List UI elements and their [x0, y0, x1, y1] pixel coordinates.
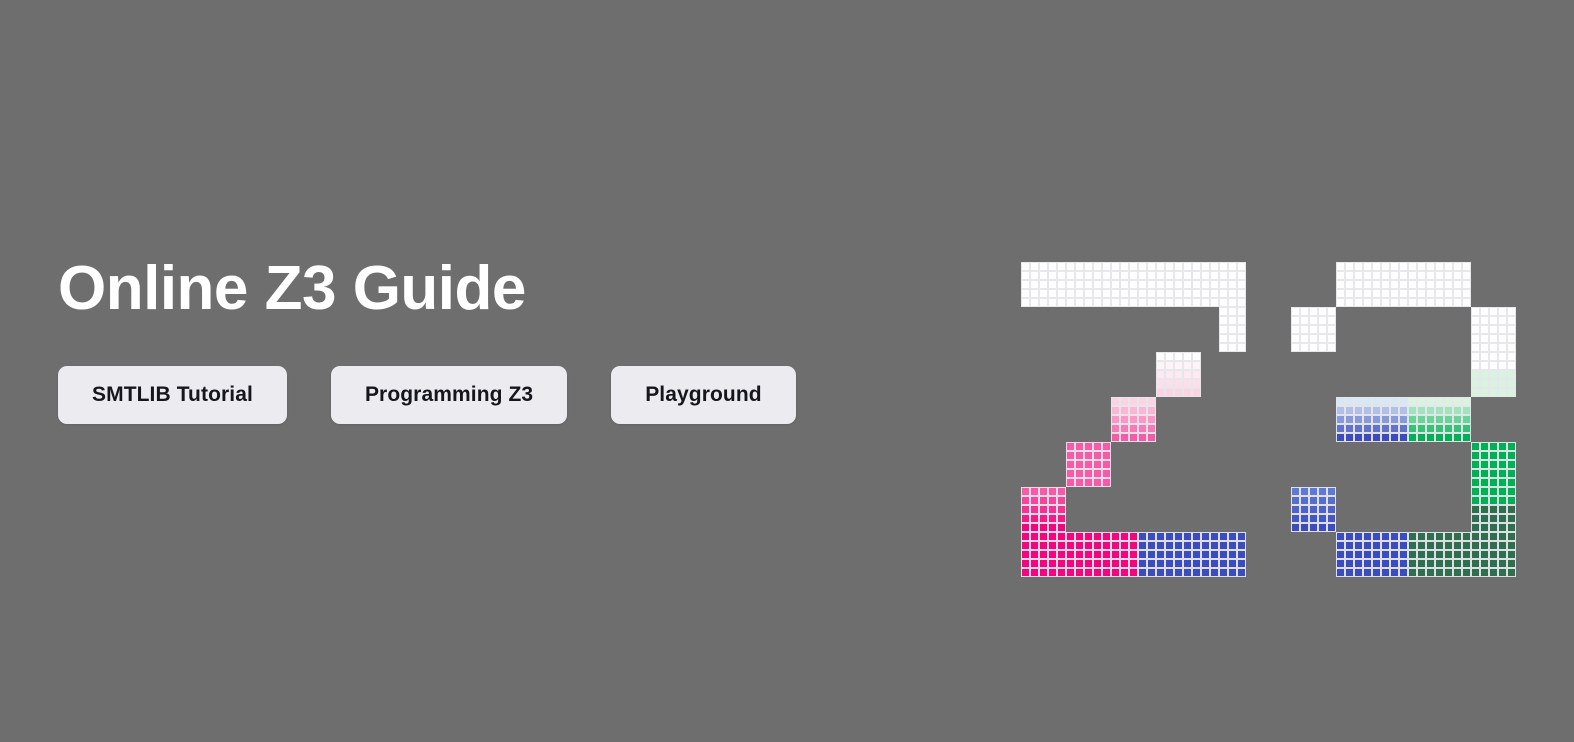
logo-pixel — [1048, 523, 1057, 532]
logo-pixel — [1111, 406, 1120, 415]
logo-pixel — [1453, 415, 1462, 424]
logo-pixel — [1498, 334, 1507, 343]
logo-pixel — [1399, 559, 1408, 568]
logo-pixel — [1399, 541, 1408, 550]
logo-pixel — [1048, 532, 1057, 541]
logo-pixel — [1075, 298, 1084, 307]
logo-pixel — [1084, 469, 1093, 478]
logo-pixel — [1390, 433, 1399, 442]
logo-pixel — [1417, 271, 1426, 280]
logo-pixel — [1111, 568, 1120, 577]
logo-pixel — [1165, 289, 1174, 298]
logo-pixel — [1156, 370, 1165, 379]
logo-pixel — [1363, 271, 1372, 280]
logo-pixel — [1336, 397, 1345, 406]
logo-pixel — [1156, 388, 1165, 397]
logo-pixel — [1129, 271, 1138, 280]
logo-pixel — [1147, 262, 1156, 271]
logo-pixel — [1183, 532, 1192, 541]
logo-pixel — [1174, 352, 1183, 361]
logo-pixel — [1372, 541, 1381, 550]
logo-pixel — [1471, 505, 1480, 514]
logo-pixel — [1084, 451, 1093, 460]
logo-pixel — [1075, 532, 1084, 541]
logo-pixel — [1453, 280, 1462, 289]
logo-pixel — [1372, 550, 1381, 559]
logo-pixel — [1201, 541, 1210, 550]
logo-pixel — [1120, 424, 1129, 433]
logo-pixel — [1165, 271, 1174, 280]
logo-pixel — [1498, 478, 1507, 487]
logo-pixel — [1030, 550, 1039, 559]
logo-pixel — [1219, 325, 1228, 334]
logo-pixel — [1417, 568, 1426, 577]
logo-pixel — [1480, 523, 1489, 532]
logo-pixel — [1057, 559, 1066, 568]
logo-pixel — [1363, 280, 1372, 289]
logo-pixel — [1030, 541, 1039, 550]
logo-pixel — [1462, 289, 1471, 298]
logo-pixel — [1381, 541, 1390, 550]
logo-pixel — [1471, 478, 1480, 487]
logo-pixel — [1318, 316, 1327, 325]
logo-pixel — [1507, 316, 1516, 325]
logo-pixel — [1363, 532, 1372, 541]
logo-pixel — [1381, 568, 1390, 577]
logo-pixel — [1102, 559, 1111, 568]
logo-pixel — [1345, 406, 1354, 415]
logo-pixel — [1057, 298, 1066, 307]
logo-pixel — [1354, 559, 1363, 568]
logo-pixel — [1174, 271, 1183, 280]
logo-pixel — [1183, 370, 1192, 379]
logo-pixel — [1093, 478, 1102, 487]
logo-pixel — [1039, 559, 1048, 568]
logo-pixel — [1183, 568, 1192, 577]
logo-pixel — [1345, 289, 1354, 298]
logo-pixel — [1372, 532, 1381, 541]
logo-pixel — [1345, 433, 1354, 442]
logo-pixel — [1489, 388, 1498, 397]
logo-pixel — [1390, 568, 1399, 577]
logo-pixel — [1210, 550, 1219, 559]
logo-pixel — [1507, 352, 1516, 361]
logo-pixel — [1237, 325, 1246, 334]
logo-pixel — [1318, 505, 1327, 514]
logo-pixel — [1165, 388, 1174, 397]
smtlib-tutorial-button[interactable]: SMTLIB Tutorial — [58, 366, 287, 424]
logo-pixel — [1435, 406, 1444, 415]
logo-pixel — [1111, 280, 1120, 289]
logo-pixel — [1147, 550, 1156, 559]
logo-pixel — [1210, 289, 1219, 298]
logo-pixel — [1093, 271, 1102, 280]
logo-pixel — [1318, 496, 1327, 505]
z3-pixel-logo — [1021, 262, 1521, 592]
logo-pixel — [1300, 505, 1309, 514]
logo-pixel — [1228, 334, 1237, 343]
logo-pixel — [1291, 343, 1300, 352]
logo-pixel — [1336, 559, 1345, 568]
logo-pixel — [1480, 442, 1489, 451]
logo-pixel — [1363, 262, 1372, 271]
logo-pixel — [1201, 298, 1210, 307]
logo-pixel — [1498, 469, 1507, 478]
logo-pixel — [1093, 469, 1102, 478]
logo-pixel — [1489, 361, 1498, 370]
logo-pixel — [1300, 334, 1309, 343]
logo-pixel — [1030, 271, 1039, 280]
logo-pixel — [1453, 406, 1462, 415]
logo-pixel — [1237, 532, 1246, 541]
logo-pixel — [1426, 298, 1435, 307]
logo-pixel — [1147, 397, 1156, 406]
logo-pixel — [1183, 541, 1192, 550]
logo-pixel — [1327, 523, 1336, 532]
logo-pixel — [1354, 289, 1363, 298]
logo-pixel — [1336, 289, 1345, 298]
logo-pixel — [1075, 442, 1084, 451]
logo-pixel — [1300, 307, 1309, 316]
logo-pixel — [1435, 433, 1444, 442]
logo-pixel — [1030, 487, 1039, 496]
logo-pixel — [1408, 424, 1417, 433]
logo-pixel — [1471, 523, 1480, 532]
logo-pixel — [1417, 433, 1426, 442]
logo-pixel — [1336, 541, 1345, 550]
logo-pixel — [1471, 316, 1480, 325]
logo-pixel — [1030, 559, 1039, 568]
logo-pixel — [1057, 514, 1066, 523]
logo-pixel — [1102, 550, 1111, 559]
logo-pixel — [1372, 262, 1381, 271]
logo-pixel — [1498, 541, 1507, 550]
cta-button-row: SMTLIB Tutorial Programming Z3 Playgroun… — [58, 366, 796, 424]
logo-pixel — [1381, 298, 1390, 307]
logo-pixel — [1048, 496, 1057, 505]
logo-pixel — [1201, 289, 1210, 298]
logo-pixel — [1174, 289, 1183, 298]
logo-pixel — [1021, 541, 1030, 550]
logo-pixel — [1093, 442, 1102, 451]
logo-pixel — [1084, 532, 1093, 541]
logo-pixel — [1156, 262, 1165, 271]
logo-pixel — [1462, 559, 1471, 568]
logo-pixel — [1066, 280, 1075, 289]
logo-pixel — [1444, 280, 1453, 289]
logo-pixel — [1480, 325, 1489, 334]
logo-pixel — [1399, 424, 1408, 433]
logo-pixel — [1507, 325, 1516, 334]
logo-pixel — [1228, 289, 1237, 298]
logo-pixel — [1174, 262, 1183, 271]
logo-pixel — [1093, 541, 1102, 550]
logo-pixel — [1390, 406, 1399, 415]
logo-pixel — [1021, 550, 1030, 559]
logo-pixel — [1183, 352, 1192, 361]
logo-pixel — [1471, 361, 1480, 370]
logo-pixel — [1480, 307, 1489, 316]
logo-pixel — [1408, 532, 1417, 541]
logo-pixel — [1408, 262, 1417, 271]
logo-pixel — [1489, 469, 1498, 478]
logo-pixel — [1201, 559, 1210, 568]
logo-pixel — [1165, 541, 1174, 550]
logo-pixel — [1363, 415, 1372, 424]
logo-pixel — [1201, 568, 1210, 577]
logo-pixel — [1192, 388, 1201, 397]
logo-pixel — [1471, 352, 1480, 361]
logo-pixel — [1444, 397, 1453, 406]
logo-pixel — [1390, 559, 1399, 568]
logo-pixel — [1372, 415, 1381, 424]
logo-pixel — [1453, 271, 1462, 280]
logo-pixel — [1435, 298, 1444, 307]
logo-pixel — [1048, 505, 1057, 514]
logo-pixel — [1480, 532, 1489, 541]
logo-pixel — [1192, 550, 1201, 559]
logo-pixel — [1138, 550, 1147, 559]
logo-pixel — [1219, 307, 1228, 316]
logo-pixel — [1354, 550, 1363, 559]
logo-pixel — [1075, 478, 1084, 487]
logo-pixel — [1390, 271, 1399, 280]
logo-pixel — [1408, 406, 1417, 415]
logo-pixel — [1462, 271, 1471, 280]
logo-pixel — [1480, 460, 1489, 469]
logo-pixel — [1075, 280, 1084, 289]
logo-pixel — [1084, 442, 1093, 451]
logo-pixel — [1417, 397, 1426, 406]
logo-pixel — [1435, 415, 1444, 424]
logo-pixel — [1291, 316, 1300, 325]
logo-pixel — [1237, 289, 1246, 298]
logo-pixel — [1093, 262, 1102, 271]
logo-pixel — [1147, 280, 1156, 289]
logo-pixel — [1129, 397, 1138, 406]
logo-pixel — [1291, 496, 1300, 505]
logo-pixel — [1084, 289, 1093, 298]
logo-pixel — [1039, 271, 1048, 280]
logo-pixel — [1372, 280, 1381, 289]
logo-pixel — [1471, 451, 1480, 460]
logo-pixel — [1057, 550, 1066, 559]
logo-pixel — [1309, 307, 1318, 316]
logo-pixel — [1363, 433, 1372, 442]
logo-pixel — [1363, 289, 1372, 298]
logo-pixel — [1147, 568, 1156, 577]
logo-pixel — [1102, 280, 1111, 289]
logo-pixel — [1462, 541, 1471, 550]
playground-button[interactable]: Playground — [611, 366, 796, 424]
logo-pixel — [1363, 541, 1372, 550]
logo-pixel — [1426, 271, 1435, 280]
logo-pixel — [1354, 424, 1363, 433]
logo-pixel — [1480, 469, 1489, 478]
logo-pixel — [1345, 559, 1354, 568]
logo-pixel — [1102, 271, 1111, 280]
logo-pixel — [1507, 469, 1516, 478]
logo-pixel — [1507, 388, 1516, 397]
logo-pixel — [1471, 541, 1480, 550]
logo-pixel — [1498, 361, 1507, 370]
logo-pixel — [1021, 559, 1030, 568]
logo-pixel — [1093, 280, 1102, 289]
logo-pixel — [1498, 451, 1507, 460]
logo-pixel — [1102, 298, 1111, 307]
logo-pixel — [1120, 433, 1129, 442]
logo-pixel — [1138, 298, 1147, 307]
logo-pixel — [1237, 334, 1246, 343]
logo-pixel — [1336, 406, 1345, 415]
logo-pixel — [1039, 505, 1048, 514]
logo-pixel — [1462, 262, 1471, 271]
logo-pixel — [1435, 541, 1444, 550]
logo-pixel — [1219, 262, 1228, 271]
logo-pixel — [1237, 298, 1246, 307]
logo-pixel — [1219, 289, 1228, 298]
logo-pixel — [1030, 505, 1039, 514]
logo-pixel — [1507, 541, 1516, 550]
logo-pixel — [1165, 379, 1174, 388]
logo-pixel — [1507, 523, 1516, 532]
logo-pixel — [1426, 559, 1435, 568]
logo-pixel — [1498, 514, 1507, 523]
logo-pixel — [1201, 532, 1210, 541]
logo-pixel — [1444, 568, 1453, 577]
logo-pixel — [1489, 559, 1498, 568]
logo-pixel — [1462, 424, 1471, 433]
logo-pixel — [1390, 415, 1399, 424]
logo-pixel — [1147, 406, 1156, 415]
logo-pixel — [1309, 496, 1318, 505]
logo-pixel — [1426, 397, 1435, 406]
logo-pixel — [1435, 532, 1444, 541]
logo-pixel — [1030, 532, 1039, 541]
logo-pixel — [1066, 262, 1075, 271]
logo-pixel — [1354, 280, 1363, 289]
logo-pixel — [1093, 568, 1102, 577]
logo-pixel — [1228, 262, 1237, 271]
logo-pixel — [1462, 532, 1471, 541]
logo-pixel — [1372, 271, 1381, 280]
logo-pixel — [1291, 487, 1300, 496]
logo-pixel — [1498, 343, 1507, 352]
logo-pixel — [1102, 442, 1111, 451]
logo-pixel — [1021, 271, 1030, 280]
logo-pixel — [1237, 307, 1246, 316]
logo-pixel — [1498, 487, 1507, 496]
logo-pixel — [1237, 280, 1246, 289]
logo-pixel — [1453, 289, 1462, 298]
logo-pixel — [1084, 559, 1093, 568]
logo-pixel — [1309, 514, 1318, 523]
logo-pixel — [1354, 262, 1363, 271]
logo-pixel — [1435, 262, 1444, 271]
logo-pixel — [1336, 271, 1345, 280]
logo-pixel — [1165, 568, 1174, 577]
logo-pixel — [1084, 280, 1093, 289]
logo-pixel — [1156, 280, 1165, 289]
logo-pixel — [1426, 289, 1435, 298]
logo-pixel — [1093, 451, 1102, 460]
logo-pixel — [1489, 568, 1498, 577]
logo-pixel — [1408, 550, 1417, 559]
logo-pixel — [1039, 496, 1048, 505]
logo-pixel — [1327, 325, 1336, 334]
logo-pixel — [1192, 541, 1201, 550]
logo-pixel — [1057, 280, 1066, 289]
logo-pixel — [1291, 307, 1300, 316]
logo-pixel — [1309, 505, 1318, 514]
logo-pixel — [1345, 568, 1354, 577]
logo-pixel — [1237, 550, 1246, 559]
logo-pixel — [1084, 460, 1093, 469]
logo-pixel — [1471, 370, 1480, 379]
logo-pixel — [1309, 316, 1318, 325]
logo-pixel — [1210, 532, 1219, 541]
logo-pixel — [1399, 262, 1408, 271]
logo-pixel — [1039, 262, 1048, 271]
logo-pixel — [1111, 298, 1120, 307]
logo-pixel — [1039, 532, 1048, 541]
logo-pixel — [1372, 289, 1381, 298]
logo-pixel — [1120, 298, 1129, 307]
logo-pixel — [1156, 532, 1165, 541]
logo-pixel — [1075, 469, 1084, 478]
logo-pixel — [1129, 289, 1138, 298]
logo-pixel — [1102, 568, 1111, 577]
logo-pixel — [1507, 361, 1516, 370]
logo-pixel — [1498, 352, 1507, 361]
programming-z3-button[interactable]: Programming Z3 — [331, 366, 567, 424]
logo-pixel — [1174, 388, 1183, 397]
logo-pixel — [1228, 568, 1237, 577]
logo-pixel — [1372, 298, 1381, 307]
logo-pixel — [1174, 559, 1183, 568]
logo-pixel — [1327, 487, 1336, 496]
logo-pixel — [1147, 532, 1156, 541]
logo-pixel — [1372, 433, 1381, 442]
page-title: Online Z3 Guide — [58, 258, 958, 320]
logo-pixel — [1480, 334, 1489, 343]
logo-pixel — [1138, 280, 1147, 289]
logo-pixel — [1399, 397, 1408, 406]
logo-pixel — [1399, 532, 1408, 541]
logo-pixel — [1039, 568, 1048, 577]
logo-pixel — [1165, 361, 1174, 370]
logo-pixel — [1426, 424, 1435, 433]
logo-pixel — [1345, 532, 1354, 541]
logo-pixel — [1381, 433, 1390, 442]
logo-pixel — [1291, 514, 1300, 523]
logo-pixel — [1057, 505, 1066, 514]
logo-pixel — [1453, 262, 1462, 271]
logo-pixel — [1237, 559, 1246, 568]
logo-pixel — [1174, 379, 1183, 388]
logo-pixel — [1444, 541, 1453, 550]
logo-pixel — [1489, 541, 1498, 550]
logo-pixel — [1327, 496, 1336, 505]
logo-pixel — [1129, 532, 1138, 541]
logo-pixel — [1399, 406, 1408, 415]
logo-pixel — [1030, 523, 1039, 532]
logo-pixel — [1138, 532, 1147, 541]
logo-pixel — [1471, 568, 1480, 577]
logo-pixel — [1039, 523, 1048, 532]
logo-pixel — [1408, 397, 1417, 406]
logo-pixel — [1498, 388, 1507, 397]
